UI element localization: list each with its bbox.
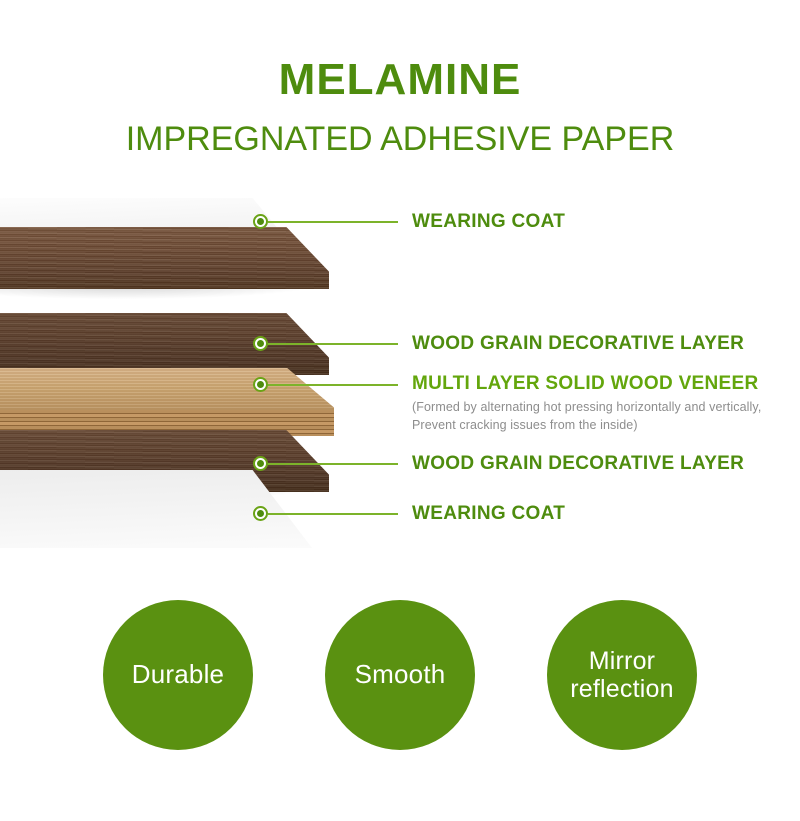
callout-multi-ply-veneer: MULTI LAYER SOLID WOOD VENEER (Formed by… [253,373,761,434]
callout-dot-icon [253,377,268,392]
callout-label: MULTI LAYER SOLID WOOD VENEER [412,373,759,394]
layer-wood-grain-top [0,227,329,289]
feature-label: Durable [124,660,232,689]
callout-leader-line [268,384,398,386]
callout-leader-line [268,343,398,345]
callout-text: WEARING COAT [412,503,565,525]
callout-leader-line [268,513,398,515]
callout-label: WEARING COAT [412,211,565,232]
callout-text: WEARING COAT [412,211,565,233]
callout-leader-line [268,463,398,465]
header: MELAMINE IMPREGNATED ADHESIVE PAPER [0,0,800,156]
callout-dot-icon [253,214,268,229]
feature-label: Smooth [347,660,454,689]
page-title: MELAMINE [0,0,800,102]
feature-badges: Durable Smooth Mirror reflection [0,600,800,760]
callout-label: WOOD GRAIN DECORATIVE LAYER [412,333,744,354]
callout-label: WOOD GRAIN DECORATIVE LAYER [412,453,744,474]
callout-dot-icon [253,336,268,351]
feature-badge-durable: Durable [103,600,253,750]
feature-label-line2: reflection [562,675,681,703]
callout-subtext-line1: (Formed by alternating hot pressing hori… [412,398,761,416]
page-subtitle: IMPREGNATED ADHESIVE PAPER [0,102,800,156]
feature-label-line1: Mirror [581,647,663,675]
callout-text: MULTI LAYER SOLID WOOD VENEER (Formed by… [412,373,761,434]
callout-label: WEARING COAT [412,503,565,524]
callout-text: WOOD GRAIN DECORATIVE LAYER [412,453,744,475]
callout-wearing-coat-top: WEARING COAT [253,211,565,233]
callout-wood-grain-bottom: WOOD GRAIN DECORATIVE LAYER [253,453,744,475]
feature-badge-smooth: Smooth [325,600,475,750]
callout-text: WOOD GRAIN DECORATIVE LAYER [412,333,744,355]
callout-dot-icon [253,506,268,521]
callout-dot-icon [253,456,268,471]
callout-subtext-line2: Prevent cracking issues from the inside) [412,416,761,434]
feature-label: Mirror reflection [554,647,689,703]
infographic-page: MELAMINE IMPREGNATED ADHESIVE PAPER [0,0,800,821]
feature-badge-mirror-reflection: Mirror reflection [547,600,697,750]
callout-leader-line [268,221,398,223]
layer-diagram: WEARING COAT WOOD GRAIN DECORATIVE LAYER… [0,185,800,565]
callout-wood-grain-top: WOOD GRAIN DECORATIVE LAYER [253,333,744,355]
callout-wearing-coat-bottom: WEARING COAT [253,503,565,525]
